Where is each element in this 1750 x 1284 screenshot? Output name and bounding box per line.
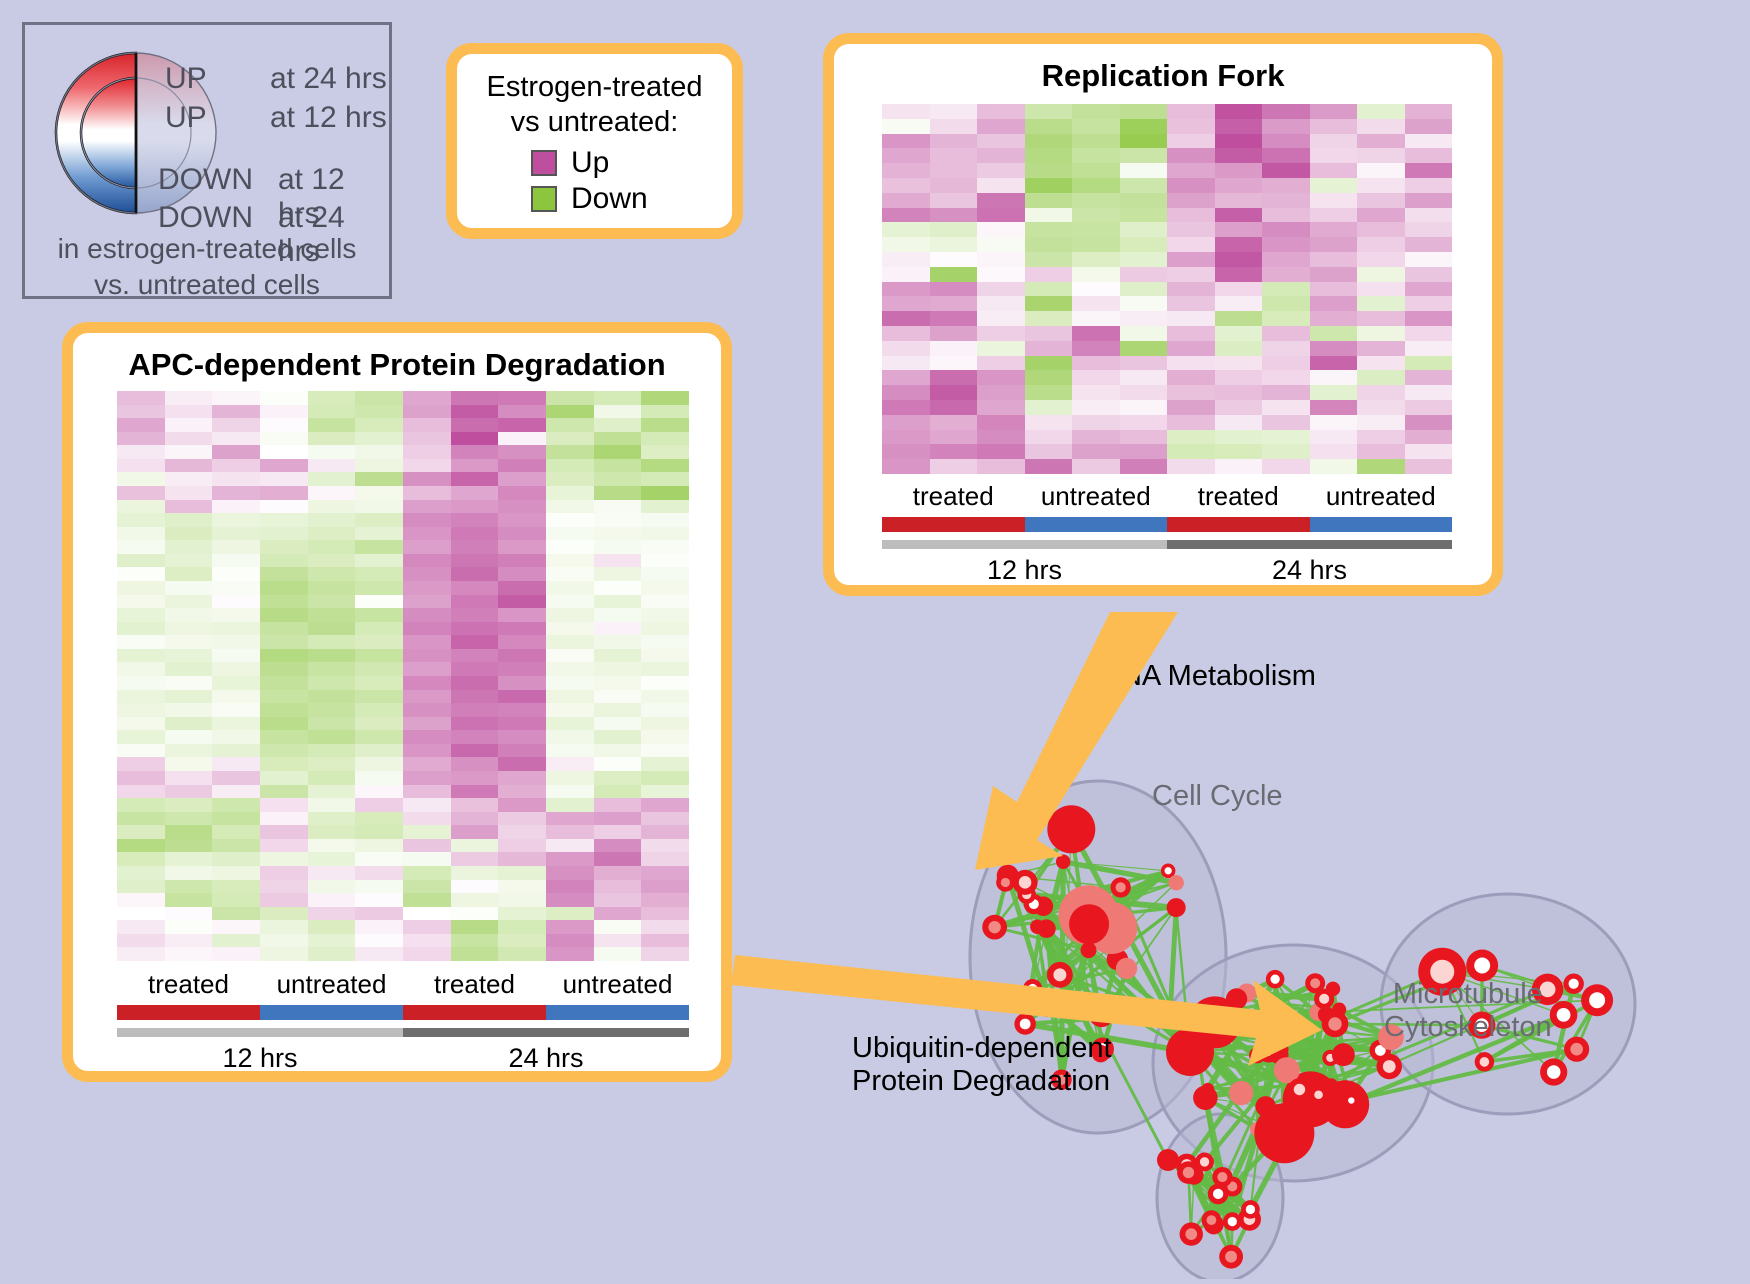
heatmap-cell xyxy=(546,717,594,731)
heatmap-cell xyxy=(308,622,356,636)
heatmap-cell xyxy=(594,622,642,636)
heatmap-cell xyxy=(977,178,1025,193)
heatmap-cell xyxy=(1215,148,1263,163)
heatmap-cell xyxy=(403,880,451,894)
heatmap-cell xyxy=(308,391,356,405)
heatmap-cell xyxy=(594,405,642,419)
heatmap-cell xyxy=(451,649,499,663)
heatmap-cell xyxy=(1120,163,1168,178)
heatmap-cell xyxy=(930,326,978,341)
heatmap-cell xyxy=(546,757,594,771)
time-bar-24hrs xyxy=(403,1028,689,1037)
heatmap-cell xyxy=(117,662,165,676)
heatmap-cell xyxy=(117,757,165,771)
heatmap-cell xyxy=(594,757,642,771)
heatmap-cell xyxy=(1215,370,1263,385)
heatmap-cell xyxy=(308,785,356,799)
heatmap-cell xyxy=(546,771,594,785)
heatmap-cell xyxy=(1167,311,1215,326)
heatmap-cell xyxy=(594,662,642,676)
condition-bar-treated xyxy=(1167,517,1310,532)
time-label-12hrs: 12 hrs xyxy=(117,1043,403,1074)
heatmap-cell xyxy=(930,370,978,385)
heatmap-cell xyxy=(977,296,1025,311)
heatmap-cell xyxy=(594,540,642,554)
heatmap-cell xyxy=(212,662,260,676)
heatmap-cell xyxy=(451,418,499,432)
heatmap-cell xyxy=(260,744,308,758)
heatmap-cell xyxy=(260,635,308,649)
heatmap-cell xyxy=(882,252,930,267)
heatmap-cell xyxy=(1025,252,1073,267)
heatmap-cell xyxy=(1310,208,1358,223)
heatmap-cell xyxy=(355,540,403,554)
heatmap-cell xyxy=(165,690,213,704)
heatmap-cell xyxy=(641,635,689,649)
heatmap-cell xyxy=(882,208,930,223)
heatmap-cell xyxy=(641,744,689,758)
heatmap-cell xyxy=(1167,222,1215,237)
heatmap-cell xyxy=(165,391,213,405)
heatmap-cell xyxy=(165,567,213,581)
heatmap-cell xyxy=(165,907,213,921)
heatmap-cell xyxy=(1262,119,1310,134)
heatmap-cell xyxy=(451,445,499,459)
heatmap-cell xyxy=(977,222,1025,237)
heatmap-cell xyxy=(546,744,594,758)
heatmap-cell xyxy=(117,852,165,866)
heatmap-cell xyxy=(1215,400,1263,415)
heatmap-cell xyxy=(977,311,1025,326)
heatmap-cell xyxy=(117,649,165,663)
color-key-box: UP at 24 hrs UP at 12 hrs DOWN at 12 hrs… xyxy=(22,22,392,299)
heatmap-cell xyxy=(1357,267,1405,282)
heatmap-cell xyxy=(451,703,499,717)
heatmap-cell xyxy=(1215,252,1263,267)
heatmap-cell xyxy=(1405,134,1453,149)
heatmap-cell xyxy=(977,134,1025,149)
heatmap-cell xyxy=(1025,459,1073,474)
heatmap-cell xyxy=(641,730,689,744)
heatmap-cell xyxy=(451,812,499,826)
key-ring-label-2: DOWN xyxy=(158,163,253,197)
heatmap-cell xyxy=(260,717,308,731)
heatmap-cell xyxy=(403,771,451,785)
network-node-core xyxy=(1557,1008,1571,1022)
heatmap-cell xyxy=(641,581,689,595)
heatmap-cell xyxy=(1405,222,1453,237)
heatmap-cell xyxy=(212,459,260,473)
heatmap-cell xyxy=(308,744,356,758)
heatmap-cell xyxy=(165,866,213,880)
heatmap-cell xyxy=(1167,459,1215,474)
heatmap-cell xyxy=(1072,104,1120,119)
heatmap-cell xyxy=(546,500,594,514)
heatmap-cell xyxy=(882,400,930,415)
heatmap-cell xyxy=(308,771,356,785)
heatmap-cell xyxy=(117,730,165,744)
heatmap-cell xyxy=(308,608,356,622)
heatmap-cell xyxy=(498,391,546,405)
heatmap-cell xyxy=(260,445,308,459)
replication-fork-heatmap xyxy=(882,104,1452,474)
heatmap-cell xyxy=(594,608,642,622)
heatmap-cell xyxy=(1262,282,1310,297)
heatmap-cell xyxy=(1310,104,1358,119)
heatmap-cell xyxy=(1357,104,1405,119)
network-node xyxy=(1047,805,1095,853)
heatmap-cell xyxy=(930,430,978,445)
network-node-core xyxy=(1116,882,1126,892)
heatmap-cell xyxy=(930,237,978,252)
heatmap-cell xyxy=(498,717,546,731)
heatmap-cell xyxy=(308,812,356,826)
heatmap-cell xyxy=(977,430,1025,445)
heatmap-cell xyxy=(403,730,451,744)
heatmap-cell xyxy=(308,540,356,554)
network-node-core xyxy=(1294,1084,1305,1095)
heatmap-cell xyxy=(308,554,356,568)
heatmap-cell xyxy=(212,947,260,961)
heatmap-cell xyxy=(1072,400,1120,415)
time-bar-12hrs xyxy=(117,1028,403,1037)
heatmap-cell xyxy=(212,798,260,812)
heatmap-cell xyxy=(1262,222,1310,237)
heatmap-cell xyxy=(930,356,978,371)
heatmap-cell xyxy=(308,445,356,459)
heatmap-cell xyxy=(451,486,499,500)
heatmap-cell xyxy=(355,730,403,744)
heatmap-cell xyxy=(930,119,978,134)
heatmap-cell xyxy=(1120,222,1168,237)
heatmap-cell xyxy=(260,391,308,405)
heatmap-cell xyxy=(1310,163,1358,178)
cluster-label-dna-metabolism: DNA Metabolism xyxy=(1100,660,1316,693)
heatmap-cell xyxy=(1120,267,1168,282)
heatmap-cell xyxy=(1310,356,1358,371)
heatmap-cell xyxy=(882,282,930,297)
heatmap-cell xyxy=(260,907,308,921)
heatmap-cell xyxy=(1215,163,1263,178)
heatmap-cell xyxy=(1357,370,1405,385)
heatmap-cell xyxy=(451,622,499,636)
heatmap-cell xyxy=(977,415,1025,430)
heatmap-cell xyxy=(403,554,451,568)
heatmap-cell xyxy=(498,500,546,514)
legend-label-up: Up xyxy=(571,146,609,180)
heatmap-cell xyxy=(1120,282,1168,297)
heatmap-cell xyxy=(641,717,689,731)
heatmap-cell xyxy=(308,459,356,473)
heatmap-cell xyxy=(260,730,308,744)
heatmap-cell xyxy=(403,527,451,541)
heatmap-cell xyxy=(451,798,499,812)
heatmap-cell xyxy=(308,880,356,894)
heatmap-cell xyxy=(546,866,594,880)
heatmap-cell xyxy=(498,907,546,921)
heatmap-cell xyxy=(355,839,403,853)
heatmap-cell xyxy=(1262,444,1310,459)
color-key-footer-line2: vs. untreated cells xyxy=(25,267,389,303)
heatmap-cell xyxy=(308,947,356,961)
heatmap-cell xyxy=(1357,252,1405,267)
heatmap-cell xyxy=(641,391,689,405)
heatmap-cell xyxy=(977,104,1025,119)
heatmap-cell xyxy=(308,920,356,934)
heatmap-cell xyxy=(1357,356,1405,371)
heatmap-cell xyxy=(451,825,499,839)
heatmap-cell xyxy=(355,595,403,609)
heatmap-cell xyxy=(117,608,165,622)
heatmap-cell xyxy=(355,907,403,921)
heatmap-cell xyxy=(308,690,356,704)
network-node-core xyxy=(1253,1051,1261,1059)
heatmap-cell xyxy=(1215,459,1263,474)
heatmap-cell xyxy=(1357,134,1405,149)
heatmap-cell xyxy=(212,785,260,799)
heatmap-cell xyxy=(308,649,356,663)
heatmap-cell xyxy=(308,717,356,731)
heatmap-cell xyxy=(546,486,594,500)
heatmap-cell xyxy=(1025,415,1073,430)
heatmap-cell xyxy=(1262,134,1310,149)
heatmap-cell xyxy=(117,595,165,609)
replication-fork-title: Replication Fork xyxy=(834,58,1492,94)
heatmap-cell xyxy=(546,540,594,554)
heatmap-cell xyxy=(117,866,165,880)
heatmap-cell xyxy=(930,163,978,178)
heatmap-cell xyxy=(355,567,403,581)
heatmap-cell xyxy=(1310,282,1358,297)
heatmap-cell xyxy=(594,635,642,649)
heatmap-cell xyxy=(594,676,642,690)
heatmap-cell xyxy=(308,934,356,948)
heatmap-cell xyxy=(308,839,356,853)
heatmap-cell xyxy=(308,676,356,690)
heatmap-cell xyxy=(546,405,594,419)
replication-fork-condition-bar xyxy=(882,517,1452,532)
heatmap-cell xyxy=(355,432,403,446)
time-label-24hrs: 24 hrs xyxy=(1167,555,1452,586)
heatmap-cell xyxy=(1167,341,1215,356)
heatmap-cell xyxy=(260,703,308,717)
heatmap-cell xyxy=(212,757,260,771)
heatmap-cell xyxy=(1072,267,1120,282)
replication-fork-condition-labels: treated untreated treated untreated xyxy=(882,481,1452,512)
heatmap-cell xyxy=(260,825,308,839)
heatmap-cell xyxy=(260,567,308,581)
heatmap-cell xyxy=(212,676,260,690)
heatmap-cell xyxy=(930,252,978,267)
heatmap-cell xyxy=(117,554,165,568)
heatmap-cell xyxy=(594,785,642,799)
heatmap-cell xyxy=(882,193,930,208)
heatmap-cell xyxy=(1310,134,1358,149)
heatmap-cell xyxy=(1072,178,1120,193)
heatmap-cell xyxy=(498,852,546,866)
heatmap-cell xyxy=(1310,222,1358,237)
replication-fork-panel: Replication Fork treated untreated treat… xyxy=(823,33,1503,596)
heatmap-cell xyxy=(403,812,451,826)
heatmap-cell xyxy=(1072,430,1120,445)
replication-fork-time-labels: 12 hrs 24 hrs xyxy=(882,555,1452,586)
heatmap-cell xyxy=(260,812,308,826)
network-node xyxy=(1116,958,1137,979)
heatmap-cell xyxy=(260,771,308,785)
heatmap-cell xyxy=(117,690,165,704)
network-node-core xyxy=(1213,1189,1223,1199)
heatmap-cell xyxy=(498,608,546,622)
network-node-core xyxy=(1001,878,1010,887)
heatmap-cell xyxy=(1167,237,1215,252)
heatmap-cell xyxy=(1357,385,1405,400)
network-node-core xyxy=(1569,979,1579,989)
heatmap-cell xyxy=(1262,311,1310,326)
heatmap-cell xyxy=(1310,326,1358,341)
heatmap-cell xyxy=(1405,104,1453,119)
heatmap-cell xyxy=(641,486,689,500)
heatmap-cell xyxy=(308,527,356,541)
heatmap-cell xyxy=(260,880,308,894)
heatmap-cell xyxy=(260,418,308,432)
heatmap-cell xyxy=(355,418,403,432)
heatmap-cell xyxy=(117,947,165,961)
heatmap-cell xyxy=(546,920,594,934)
heatmap-cell xyxy=(403,852,451,866)
heatmap-cell xyxy=(930,385,978,400)
heatmap-cell xyxy=(1262,148,1310,163)
network-node-core xyxy=(1314,1090,1323,1099)
heatmap-cell xyxy=(1167,296,1215,311)
heatmap-cell xyxy=(930,222,978,237)
heatmap-cell xyxy=(498,798,546,812)
heatmap-cell xyxy=(641,405,689,419)
heatmap-cell xyxy=(977,267,1025,282)
heatmap-cell xyxy=(1025,370,1073,385)
heatmap-cell xyxy=(165,947,213,961)
heatmap-cell xyxy=(498,527,546,541)
heatmap-cell xyxy=(641,418,689,432)
heatmap-cell xyxy=(1262,459,1310,474)
heatmap-cell xyxy=(882,370,930,385)
heatmap-cell xyxy=(1120,430,1168,445)
heatmap-cell xyxy=(594,418,642,432)
heatmap-cell xyxy=(594,527,642,541)
heatmap-cell xyxy=(1072,163,1120,178)
heatmap-cell xyxy=(546,595,594,609)
heatmap-cell xyxy=(930,134,978,149)
heatmap-cell xyxy=(355,920,403,934)
heatmap-cell xyxy=(260,866,308,880)
condition-label: treated xyxy=(117,969,260,1000)
heatmap-cell xyxy=(117,880,165,894)
heatmap-cell xyxy=(403,581,451,595)
heatmap-cell xyxy=(117,907,165,921)
heatmap-cell xyxy=(594,595,642,609)
heatmap-cell xyxy=(165,717,213,731)
heatmap-cell xyxy=(403,690,451,704)
heatmap-cell xyxy=(1357,341,1405,356)
heatmap-cell xyxy=(882,119,930,134)
heatmap-cell xyxy=(882,104,930,119)
network-node-core xyxy=(1328,1017,1341,1030)
heatmap-cell xyxy=(451,744,499,758)
heatmap-cell xyxy=(212,554,260,568)
color-key-footer: in estrogen-treated cells vs. untreated … xyxy=(25,231,389,303)
network-node xyxy=(1081,942,1097,958)
heatmap-cell xyxy=(355,405,403,419)
heatmap-cell xyxy=(1120,119,1168,134)
heatmap-cell xyxy=(1120,237,1168,252)
heatmap-cell xyxy=(355,608,403,622)
heatmap-cell xyxy=(1120,178,1168,193)
heatmap-cell xyxy=(355,662,403,676)
legend-swatch-up-icon xyxy=(531,150,557,176)
heatmap-cell xyxy=(212,744,260,758)
heatmap-cell xyxy=(212,500,260,514)
heatmap-cell xyxy=(1120,148,1168,163)
heatmap-cell xyxy=(403,947,451,961)
heatmap-cell xyxy=(1167,400,1215,415)
heatmap-cell xyxy=(165,608,213,622)
network-node-core xyxy=(1183,1167,1194,1178)
heatmap-cell xyxy=(1357,163,1405,178)
heatmap-cell xyxy=(451,866,499,880)
heatmap-cell xyxy=(641,649,689,663)
heatmap-cell xyxy=(165,527,213,541)
network-node xyxy=(1255,1096,1275,1116)
condition-label: treated xyxy=(1167,481,1310,512)
heatmap-cell xyxy=(212,920,260,934)
heatmap-cell xyxy=(403,608,451,622)
heatmap-cell xyxy=(165,432,213,446)
heatmap-cell xyxy=(641,567,689,581)
heatmap-cell xyxy=(355,527,403,541)
heatmap-cell xyxy=(403,513,451,527)
heatmap-cell xyxy=(1120,444,1168,459)
heatmap-cell xyxy=(498,771,546,785)
heatmap-cell xyxy=(882,430,930,445)
network-node-core xyxy=(1095,1008,1108,1021)
heatmap-cell xyxy=(355,934,403,948)
heatmap-cell xyxy=(882,326,930,341)
condition-bar-treated xyxy=(882,517,1025,532)
heatmap-cell xyxy=(355,690,403,704)
heatmap-cell xyxy=(1215,178,1263,193)
heatmap-cell xyxy=(117,567,165,581)
heatmap-cell xyxy=(546,907,594,921)
heatmap-cell xyxy=(594,391,642,405)
heatmap-cell xyxy=(930,193,978,208)
network-node-core xyxy=(1019,876,1032,889)
heatmap-cell xyxy=(977,459,1025,474)
heatmap-cell xyxy=(1120,341,1168,356)
heatmap-cell xyxy=(641,676,689,690)
heatmap-cell xyxy=(1357,282,1405,297)
heatmap-cell xyxy=(355,893,403,907)
heatmap-cell xyxy=(1310,341,1358,356)
cluster-label-cell-cycle: Cell Cycle xyxy=(1152,780,1283,813)
time-bar-12hrs xyxy=(882,540,1167,549)
heatmap-cell xyxy=(355,866,403,880)
heatmap-cell xyxy=(403,893,451,907)
heatmap-cell xyxy=(641,920,689,934)
heatmap-cell xyxy=(546,812,594,826)
heatmap-cell xyxy=(498,513,546,527)
condition-bar-untreated xyxy=(260,1005,403,1020)
heatmap-cell xyxy=(308,581,356,595)
heatmap-cell xyxy=(308,405,356,419)
